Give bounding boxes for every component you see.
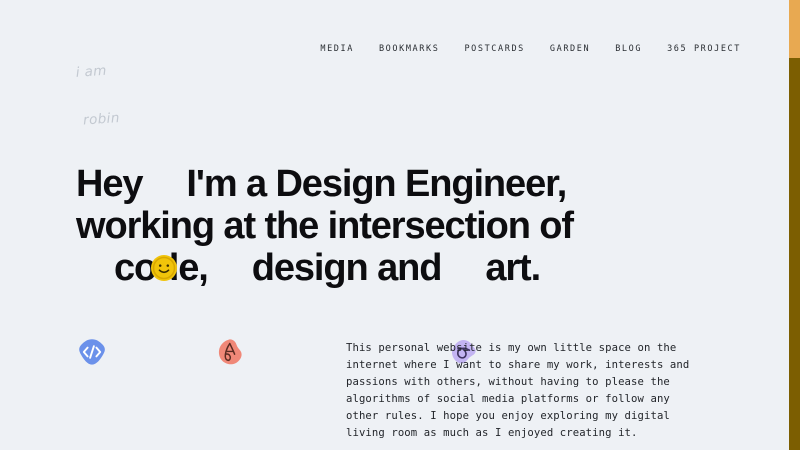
main-navigation: MEDIA BOOKMARKS POSTCARDS GARDEN BLOG 36…	[320, 44, 741, 54]
nav-item-postcards[interactable]: POSTCARDS	[464, 44, 524, 54]
hero-text-art: art.	[485, 247, 540, 289]
hero-line-1: Hey I'm a Design Engineer,	[76, 163, 716, 205]
nav-item-365-project[interactable]: 365 PROJECT	[667, 44, 741, 54]
logo-line-1: i am	[75, 62, 117, 81]
logo-line-2: robin	[79, 110, 121, 129]
intro-paragraph: This personal website is my own little s…	[346, 340, 706, 442]
nav-item-blog[interactable]: BLOG	[615, 44, 642, 54]
page-scrollbar-track[interactable]	[789, 0, 800, 450]
code-blob-icon	[76, 252, 108, 284]
design-blob-icon	[214, 252, 246, 284]
hero-text-design: design and	[252, 247, 442, 289]
page-root: i am robin MEDIA BOOKMARKS POSTCARDS GAR…	[0, 0, 789, 450]
nav-item-bookmarks[interactable]: BOOKMARKS	[379, 44, 439, 54]
nav-item-media[interactable]: MEDIA	[320, 44, 354, 54]
smiley-face-emoji	[148, 168, 180, 200]
page-scrollbar-thumb[interactable]	[789, 0, 800, 58]
site-header: i am robin MEDIA BOOKMARKS POSTCARDS GAR…	[0, 0, 789, 100]
nav-item-garden[interactable]: GARDEN	[550, 44, 590, 54]
art-blob-icon	[447, 252, 479, 284]
hero-text-intro: I'm a Design Engineer,	[186, 163, 566, 205]
hero-heading: Hey I'm a Design Engineer, working at th…	[76, 163, 716, 289]
site-logo[interactable]: i am robin	[73, 30, 123, 161]
hero-text-hey: Hey	[76, 163, 142, 205]
